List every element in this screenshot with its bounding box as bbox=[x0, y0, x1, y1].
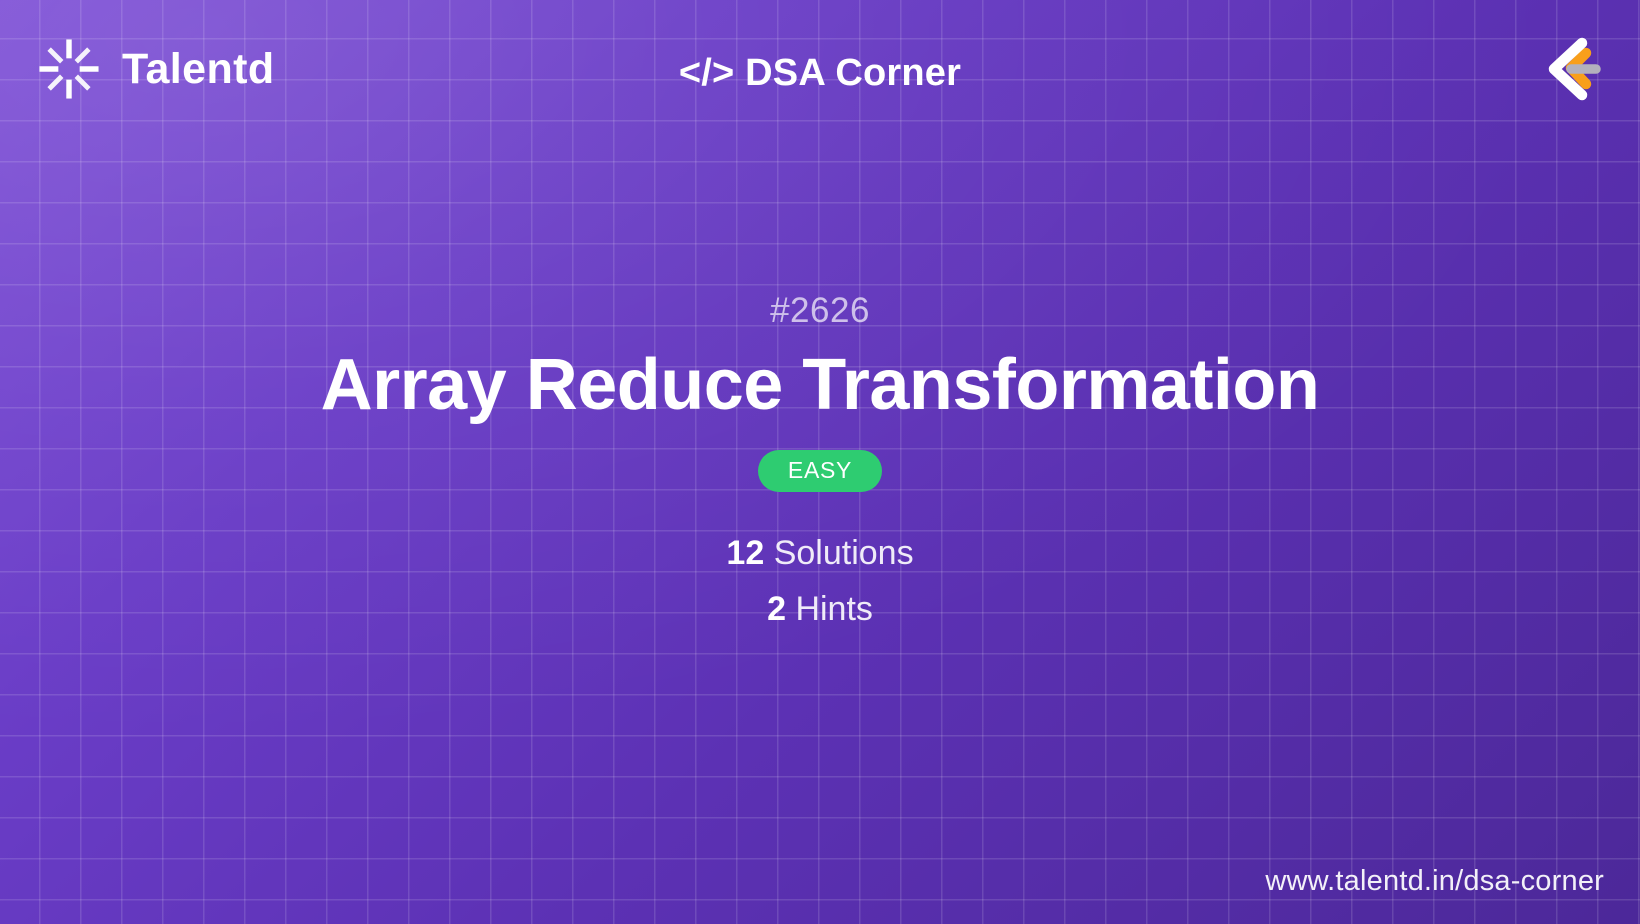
stat-solutions-label: Solutions bbox=[774, 534, 914, 572]
problem-title: Array Reduce Transformation bbox=[321, 347, 1320, 425]
stat-solutions: 12 Solutions bbox=[726, 536, 913, 572]
dsa-corner-card: Talentd </> DSA Corner #2626 Array Reduc… bbox=[0, 0, 1640, 924]
problem-number: #2626 bbox=[770, 292, 870, 331]
page-title: </> DSA Corner bbox=[0, 52, 1640, 95]
stat-solutions-label-space bbox=[764, 534, 773, 572]
footer-url[interactable]: www.talentd.in/dsa-corner bbox=[1265, 867, 1604, 896]
stat-hints-count: 2 bbox=[767, 590, 786, 628]
stat-hints: 2 Hints bbox=[767, 592, 873, 628]
stat-hints-label: Hints bbox=[795, 590, 872, 628]
difficulty-badge: EASY bbox=[758, 450, 882, 492]
stats-group: 12 Solutions 2 Hints bbox=[726, 536, 913, 627]
leetcode-logo-icon bbox=[1530, 28, 1612, 110]
problem-summary: #2626 Array Reduce Transformation EASY 1… bbox=[0, 292, 1640, 628]
header-bar: Talentd </> DSA Corner bbox=[0, 0, 1640, 150]
stat-solutions-count: 12 bbox=[726, 534, 764, 572]
